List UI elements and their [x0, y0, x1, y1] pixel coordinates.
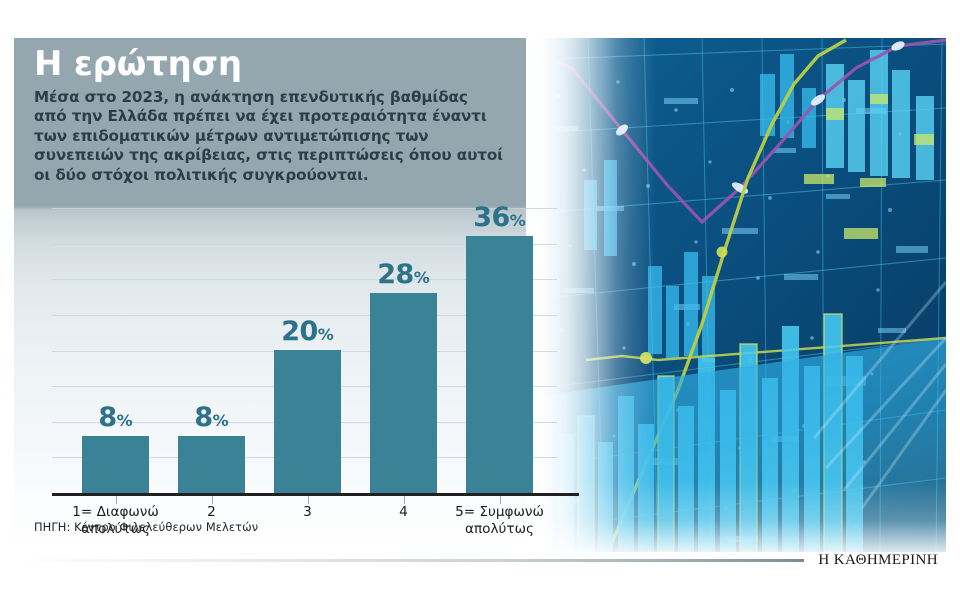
x-axis-category-label: 5= Συμφωνώ απολύτως [444, 504, 555, 538]
bar: 8% [82, 436, 149, 493]
x-axis-tick [116, 496, 117, 504]
question-text: Μέσα στο 2023, η ανάκτηση επενδυτικής βα… [34, 88, 504, 185]
bar-value-number: 36 [473, 202, 510, 233]
bar-chart: 8%8%20%28%36% 1= Διαφωνώ απολύτως2345= Σ… [34, 208, 574, 548]
bar-value-suffix: % [213, 411, 229, 430]
page-title: Η ερώτηση [34, 44, 504, 84]
bar: 36% [466, 236, 533, 493]
bar-value-number: 8 [98, 402, 116, 433]
bar-value-label: 8% [82, 402, 149, 433]
x-axis-category-label: 2 [156, 504, 267, 521]
bar: 20% [274, 350, 341, 493]
bar: 28% [370, 293, 437, 493]
bar-value-suffix: % [117, 411, 133, 430]
infographic-panel: Η ερώτηση Μέσα στο 2023, η ανάκτηση επεν… [14, 38, 946, 552]
publication-logo: Η ΚΑΘΗΜΕΡΙΝΗ [818, 552, 938, 569]
plot-area: 8%8%20%28%36% [34, 208, 574, 493]
bar-value-number: 28 [377, 259, 414, 290]
x-axis-ticks [34, 496, 574, 504]
bar-value-suffix: % [318, 325, 334, 344]
bar-value-number: 20 [281, 316, 318, 347]
bar-value-label: 28% [370, 259, 437, 290]
stock-market-artwork [526, 38, 946, 552]
x-axis-tick [404, 496, 405, 504]
x-axis-tick [500, 496, 501, 504]
bar-value-label: 36% [466, 202, 533, 233]
bar-value-label: 8% [178, 402, 245, 433]
bar-value-label: 20% [274, 316, 341, 347]
bar-value-suffix: % [414, 268, 430, 287]
x-axis-tick [212, 496, 213, 504]
source-note: ΠΗΓΗ: Κέντρο Φιλελεύθερων Μελετών [34, 520, 258, 534]
infographic-root: Η ερώτηση Μέσα στο 2023, η ανάκτηση επεν… [0, 0, 960, 600]
bar: 8% [178, 436, 245, 493]
bar-value-suffix: % [510, 211, 526, 230]
footer-divider [14, 559, 804, 562]
footer: Η ΚΑΘΗΜΕΡΙΝΗ [14, 552, 946, 574]
x-axis-category-label: 4 [348, 504, 459, 521]
bars-container: 8%8%20%28%36% [34, 208, 574, 493]
header-block: Η ερώτηση Μέσα στο 2023, η ανάκτηση επεν… [34, 44, 504, 185]
x-axis-category-label: 3 [252, 504, 363, 521]
x-axis-tick [308, 496, 309, 504]
bar-value-number: 8 [194, 402, 212, 433]
